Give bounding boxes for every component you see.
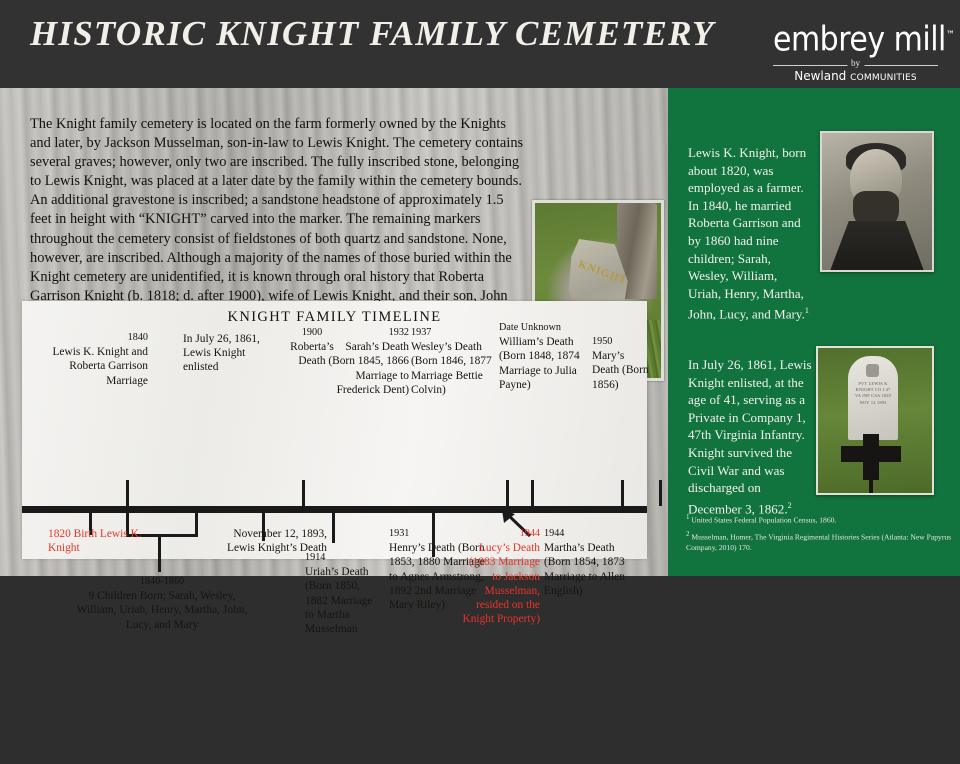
timeline-event-year: 1950: [592, 335, 650, 349]
footnote-1-text: United States Federal Population Census,…: [691, 516, 836, 525]
timeline-tick-up: [621, 480, 624, 506]
footnote-2-text: Musselman, Homer, The Virginia Regimenta…: [686, 532, 951, 551]
footnote-1-marker: 1: [686, 513, 690, 521]
grave-inscription-text: PVT LEWIS K KNIGHT CO I 47 VA INF CSA 18…: [852, 381, 894, 406]
poster-root: HISTORIC KNIGHT FAMILY CEMETERY embrey m…: [0, 0, 960, 576]
timeline-event-martha-death-1944: 1944 Martha’s Death (Born 1854, 1873 Mar…: [544, 527, 636, 598]
timeline-event-enlisted-1861: In July 26, 1861, Lewis Knight enlisted: [183, 332, 265, 375]
page-title: HISTORIC KNIGHT FAMILY CEMETERY: [30, 14, 715, 54]
timeline-event-year: 1840: [28, 331, 148, 345]
timeline-event-lucy-death-1944: 1944 Lucy’s Death (1883 Marriage to Jack…: [462, 527, 540, 626]
timeline-tick-up: [506, 480, 509, 506]
timeline-event-year: 1937: [411, 326, 495, 340]
footnote-2: 2 Musselman, Homer, The Virginia Regimen…: [686, 529, 952, 553]
portrait-body-shape: [830, 221, 924, 271]
sidebar-paragraph-1: Lewis K. Knight, born about 1820, was em…: [688, 144, 810, 323]
timeline-event-year: 1932: [318, 326, 409, 340]
logo-newland: Newland: [794, 69, 846, 83]
timeline-panel: KNIGHT FAMILY TIMELINE: [22, 301, 647, 559]
timeline-event-wesley-death-1937: 1937 Wesley’s Death (Born 1846, 1877 Mar…: [411, 326, 495, 397]
timeline-event-text: 1820 Birth Lewis K. Knight: [48, 528, 142, 554]
timeline-event-text: Sarah’s Death (Born 1845, 1866 Marriage …: [328, 341, 409, 396]
timeline-event-text: Lucy’s Death (1883 Marriage to Jackson M…: [462, 542, 540, 625]
footnote-2-marker: 2: [686, 530, 690, 538]
timeline-tick-up: [659, 480, 662, 506]
timeline-event-year: Date Unknown: [499, 321, 585, 335]
footnote-ref-1: 1: [805, 306, 809, 315]
intro-paragraph: The Knight family cemetery is located on…: [30, 115, 525, 325]
timeline-event-text: Uriah’s Death (Born 1850, 1882 Marriage …: [305, 566, 372, 635]
logo-subbrand: Newland COMMUNITIES: [773, 69, 938, 83]
footnotes-block: 1 United States Federal Population Censu…: [686, 512, 952, 556]
logo-divider: by: [773, 65, 938, 66]
timeline-event-william-death-unknown: Date Unknown William’s Death (Born 1848,…: [499, 321, 585, 392]
logo-by-label: by: [847, 58, 864, 68]
trademark-icon: ™: [946, 30, 955, 41]
sidebar-paragraph-1-text: Lewis K. Knight, born about 1820, was em…: [688, 145, 806, 322]
timeline-event-year: 1944: [544, 527, 636, 541]
timeline-axis-bar: [22, 506, 647, 513]
timeline-event-uriah-death-1914: 1914 Uriah’s Death (Born 1850, 1882 Marr…: [305, 551, 383, 636]
timeline-tick-up: [126, 480, 129, 506]
logo-wordmark: embrey mill™: [773, 18, 938, 58]
timeline-event-text: Martha’s Death (Born 1854, 1873 Marriage…: [544, 542, 625, 597]
timeline-tick-up: [531, 480, 534, 506]
logo-wordmark-text: embrey mill: [773, 20, 946, 59]
timeline-event-text: Lewis K. Knight and Roberta Garrison Mar…: [52, 346, 148, 386]
embrey-mill-logo: embrey mill™ by Newland COMMUNITIES: [773, 18, 938, 83]
timeline-event-year: 1914: [305, 551, 383, 565]
timeline-bracket-stem: [158, 534, 161, 572]
timeline-event-birth-1820: 1820 Birth Lewis K. Knight: [48, 527, 158, 555]
timeline-event-text: William’s Death (Born 1848, 1874 Marriag…: [499, 336, 580, 391]
timeline-tick-down: [332, 513, 335, 543]
header-bar: HISTORIC KNIGHT FAMILY CEMETERY embrey m…: [0, 0, 960, 88]
timeline-event-marriage-1840: 1840 Lewis K. Knight and Roberta Garriso…: [28, 331, 148, 388]
timeline-event-year: 1944: [462, 527, 540, 541]
grave-insignia-icon: [866, 364, 879, 377]
left-content-panel: The Knight family cemetery is located on…: [0, 88, 668, 576]
timeline-event-text: In July 26, 1861, Lewis Knight enlisted: [183, 333, 260, 373]
timeline-tick-up: [302, 480, 305, 506]
lewis-knight-portrait-photo: [820, 131, 934, 272]
timeline-event-text: 9 Children Born; Sarah, Wesley, William,…: [77, 590, 248, 630]
timeline-event-children-1840-1860: 1840-1860 9 Children Born; Sarah, Wesley…: [72, 575, 252, 632]
sidebar-paragraph-2-text: In July 26, 1861, Lewis Knight enlisted,…: [688, 357, 812, 516]
sidebar-paragraph-2: In July 26, 1861, Lewis Knight enlisted,…: [688, 356, 812, 518]
timeline-event-year: 1840-1860: [72, 575, 252, 589]
timeline-event-text: Mary’s Death (Born 1856): [592, 350, 649, 390]
footnote-ref-2: 2: [788, 501, 792, 510]
timeline-event-text: Wesley’s Death (Born 1846, 1877 Marriage…: [411, 341, 492, 396]
sidebar-green-panel: Lewis K. Knight, born about 1820, was em…: [668, 88, 960, 576]
lewis-knight-grave-photo: PVT LEWIS K KNIGHT CO I 47 VA INF CSA 18…: [816, 346, 934, 495]
cross-stake-shape: [869, 468, 873, 493]
logo-communities: COMMUNITIES: [850, 73, 917, 83]
footnote-1: 1 United States Federal Population Censu…: [686, 512, 952, 526]
timeline-event-mary-death-1950: 1950 Mary’s Death (Born 1856): [592, 335, 650, 392]
timeline-event-sarah-death-1932: 1932 Sarah’s Death (Born 1845, 1866 Marr…: [318, 326, 409, 397]
